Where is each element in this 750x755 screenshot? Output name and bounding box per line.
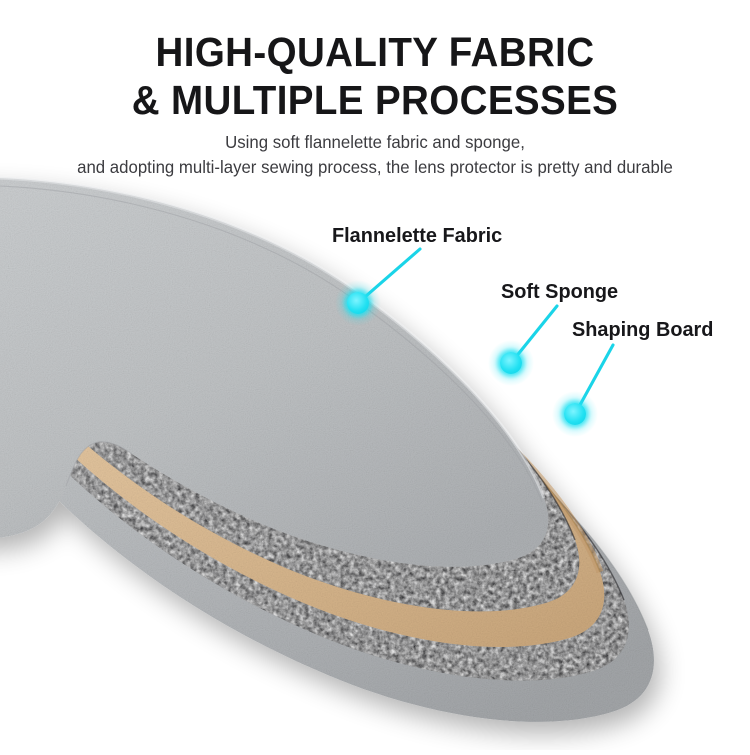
subtitle-line-1: Using soft flannelette fabric and sponge… xyxy=(15,130,735,155)
heading-block: HIGH-QUALITY FABRIC & MULTIPLE PROCESSES xyxy=(0,28,750,124)
heading-line-2: & MULTIPLE PROCESSES xyxy=(23,76,728,124)
infographic-canvas: Flannelette Fabric Soft Sponge Shaping B… xyxy=(0,0,750,750)
marker-core-icon xyxy=(347,292,369,314)
subtitle-line-2: and adopting multi-layer sewing process,… xyxy=(15,155,735,180)
callout-marker-soft-sponge[interactable] xyxy=(488,340,534,386)
marker-core-icon xyxy=(500,352,522,374)
callout-label-flannelette-fabric: Flannelette Fabric xyxy=(332,224,502,248)
subtitle-block: Using soft flannelette fabric and sponge… xyxy=(0,130,750,180)
marker-core-icon xyxy=(564,403,586,425)
heading-line-1: HIGH-QUALITY FABRIC xyxy=(23,28,728,76)
callout-marker-flannelette-fabric[interactable] xyxy=(335,280,381,326)
callout-label-shaping-board: Shaping Board xyxy=(572,318,713,342)
callout-marker-shaping-board[interactable] xyxy=(552,391,598,437)
callout-label-soft-sponge: Soft Sponge xyxy=(501,280,618,304)
